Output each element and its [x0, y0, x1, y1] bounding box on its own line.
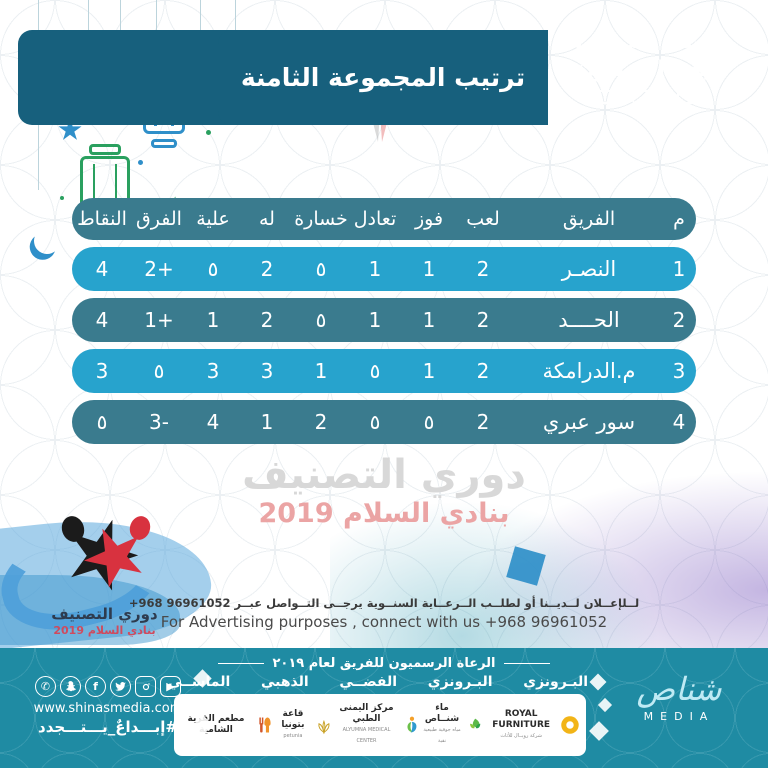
- cell-played: 2: [456, 410, 510, 434]
- cell-won: 1: [402, 257, 456, 281]
- cell-won: 1: [402, 308, 456, 332]
- social-block: ✆ f ▶ www.sh: [18, 676, 198, 736]
- website-url[interactable]: www.shinasmedia.com: [18, 701, 198, 716]
- col-header-for: له: [240, 208, 294, 230]
- cell-draw: ٥: [348, 410, 402, 434]
- cell-team: النصـر: [516, 257, 662, 281]
- social-icon-row: ✆ f ▶: [18, 676, 198, 697]
- cell-points: 4: [72, 257, 132, 281]
- poster-root: ترتيب المجموعة الثامنة شبكة شنــاص ميديا…: [0, 0, 768, 768]
- sponsor-name: ROYAL FURNITUREشركة رويــال للأثاث: [485, 709, 557, 742]
- cell-for: 2: [240, 308, 294, 332]
- cell-won: ٥: [402, 410, 456, 434]
- shamiya-restaurant-logo-icon: [255, 709, 275, 741]
- standings-table: م الفريق لعب فوز تعادل خسارة له علية الف…: [72, 198, 696, 451]
- tier-label-silver: الفضــي: [339, 674, 397, 690]
- sponsor-royal-furniture[interactable]: ROYAL FURNITUREشركة رويــال للأثاث: [485, 709, 580, 742]
- royal-furniture-logo-icon: [560, 709, 580, 741]
- table-row[interactable]: 2 الحــــد 2 1 1 ٥ 2 1 +1 4: [72, 298, 696, 342]
- cell-loss: 2: [294, 410, 348, 434]
- youtube-icon[interactable]: ▶: [160, 676, 181, 697]
- brand-block: شبكة شنــاص ميديا الإخبارية: [554, 28, 744, 104]
- cell-no: 2: [662, 308, 696, 332]
- sponsor-name: مركز اليمنى الطبيALYUMNA MEDICAL CENTER: [334, 703, 399, 747]
- col-header-draw: تعادل: [348, 208, 402, 230]
- cell-loss: 1: [294, 359, 348, 383]
- alyumna-medical-logo-icon: [402, 709, 422, 741]
- sponsor-alyumna-medical[interactable]: مركز اليمنى الطبيALYUMNA MEDICAL CENTER: [334, 703, 422, 747]
- cell-loss: ٥: [294, 257, 348, 281]
- crescent-blue-icon: [30, 224, 63, 257]
- cell-draw: ٥: [348, 359, 402, 383]
- col-header-against: علية: [186, 208, 240, 230]
- cell-no: 3: [662, 359, 696, 383]
- shinas-media-logo: شناص MEDIA: [614, 670, 744, 723]
- cell-draw: 1: [348, 257, 402, 281]
- cell-diff: +1: [132, 308, 186, 332]
- twitter-icon[interactable]: [110, 676, 131, 697]
- sponsor-section-title: الرعاة الرسميون للفريق لعام ٢٠١٩: [0, 656, 768, 671]
- brand-line-2: ميديا الإخبارية: [554, 56, 744, 84]
- snapchat-glyph: [64, 680, 77, 693]
- diamond-accent-left: [196, 672, 226, 752]
- sponsor-title-text: الرعاة الرسميون للفريق لعام ٢٠١٩: [272, 656, 495, 671]
- table-row[interactable]: 1 النصـر 2 1 1 ٥ 2 ٥ +2 4: [72, 247, 696, 291]
- footer-band: الرعاة الرسميون للفريق لعام ٢٠١٩ البـرون…: [0, 648, 768, 768]
- cell-against: ٥: [186, 257, 240, 281]
- cell-loss: ٥: [294, 308, 348, 332]
- sponsor-subtitle: petunia: [275, 731, 311, 742]
- media-logo-mark: شناص: [614, 670, 744, 708]
- advertising-text-english: For Advertising purposes , connect with …: [0, 613, 768, 631]
- cell-team: م.الدرامكة: [516, 359, 662, 383]
- hashtag: #إبـــداعٌ_يـــتـــجدد: [18, 718, 198, 736]
- sponsor-shinas-water[interactable]: ماء شنــاصمياه جوفية طبيعية نقية: [422, 703, 485, 747]
- col-header-no: م: [662, 208, 696, 230]
- cell-diff: -3: [132, 410, 186, 434]
- tier-label-gold: الذهبي: [261, 674, 309, 690]
- cell-won: 1: [402, 359, 456, 383]
- tier-label-bronze-1: البـرونزي: [428, 674, 493, 690]
- cell-team: سور عبري: [516, 410, 662, 434]
- sponsor-name: ماء شنــاصمياه جوفية طبيعية نقية: [422, 703, 462, 747]
- cell-against: 4: [186, 410, 240, 434]
- col-header-points: النقاط: [72, 208, 132, 230]
- sponsor-logos-card: ROYAL FURNITUREشركة رويــال للأثاث ماء ش…: [174, 694, 586, 756]
- cell-no: 4: [662, 410, 696, 434]
- sponsor-subtitle: مياه جوفية طبيعية نقية: [422, 725, 462, 747]
- cell-for: 3: [240, 359, 294, 383]
- col-header-won: فوز: [402, 208, 456, 230]
- brand-line-1: شبكة شنــاص: [554, 28, 744, 56]
- cell-played: 2: [456, 257, 510, 281]
- instagram-icon[interactable]: [135, 676, 156, 697]
- col-header-team: الفريق: [516, 208, 662, 230]
- advertising-text-arabic: لــلإعــلان لــديــنا أو لطلــب الــرعــ…: [0, 596, 768, 610]
- sponsor-name: قاعة بتونياpetunia: [275, 709, 311, 742]
- sponsor-subtitle: ALYUMNA MEDICAL CENTER: [334, 725, 399, 747]
- cell-points: ٥: [72, 410, 132, 434]
- advertising-block: لــلإعــلان لــديــنا أو لطلــب الــرعــ…: [0, 596, 768, 631]
- cell-played: 2: [456, 308, 510, 332]
- header-title-bar: ترتيب المجموعة الثامنة: [218, 30, 548, 125]
- cell-against: 3: [186, 359, 240, 383]
- table-row[interactable]: 4 سور عبري 2 ٥ ٥ 2 1 4 -3 ٥: [72, 400, 696, 444]
- sponsor-subtitle: شركة رويــال للأثاث: [485, 731, 557, 742]
- cell-team: الحــــد: [516, 308, 662, 332]
- whatsapp-icon[interactable]: ✆: [35, 676, 56, 697]
- tier-label-bronze-2: البـرونزي: [523, 674, 588, 690]
- cell-no: 1: [662, 257, 696, 281]
- sponsor-tier-labels: البـرونزي البـرونزي الفضــي الذهبي الماس…: [168, 674, 588, 690]
- petunia-hall-logo-icon: [314, 709, 334, 741]
- page-title: ترتيب المجموعة الثامنة: [241, 63, 525, 92]
- media-logo-word: MEDIA: [614, 710, 744, 723]
- cell-diff: ٥: [132, 359, 186, 383]
- col-header-diff: الفرق: [132, 208, 186, 230]
- col-header-played: لعب: [456, 208, 510, 230]
- cell-points: 3: [72, 359, 132, 383]
- col-header-loss: خسارة: [294, 208, 348, 230]
- cell-for: 2: [240, 257, 294, 281]
- cell-for: 1: [240, 410, 294, 434]
- facebook-icon[interactable]: f: [85, 676, 106, 697]
- instagram-glyph: [140, 681, 152, 693]
- twitter-glyph: [114, 680, 127, 693]
- shinas-wordmark-icon: [554, 90, 744, 104]
- cell-points: 4: [72, 308, 132, 332]
- sponsor-petunia-hall[interactable]: قاعة بتونياpetunia: [275, 709, 334, 742]
- cell-draw: 1: [348, 308, 402, 332]
- shinas-water-logo-icon: [465, 709, 485, 741]
- cell-diff: +2: [132, 257, 186, 281]
- table-header-row: م الفريق لعب فوز تعادل خسارة له علية الف…: [72, 198, 696, 240]
- cell-against: 1: [186, 308, 240, 332]
- snapchat-icon[interactable]: [60, 676, 81, 697]
- table-row[interactable]: 3 م.الدرامكة 2 1 ٥ 1 3 3 ٥ 3: [72, 349, 696, 393]
- cell-played: 2: [456, 359, 510, 383]
